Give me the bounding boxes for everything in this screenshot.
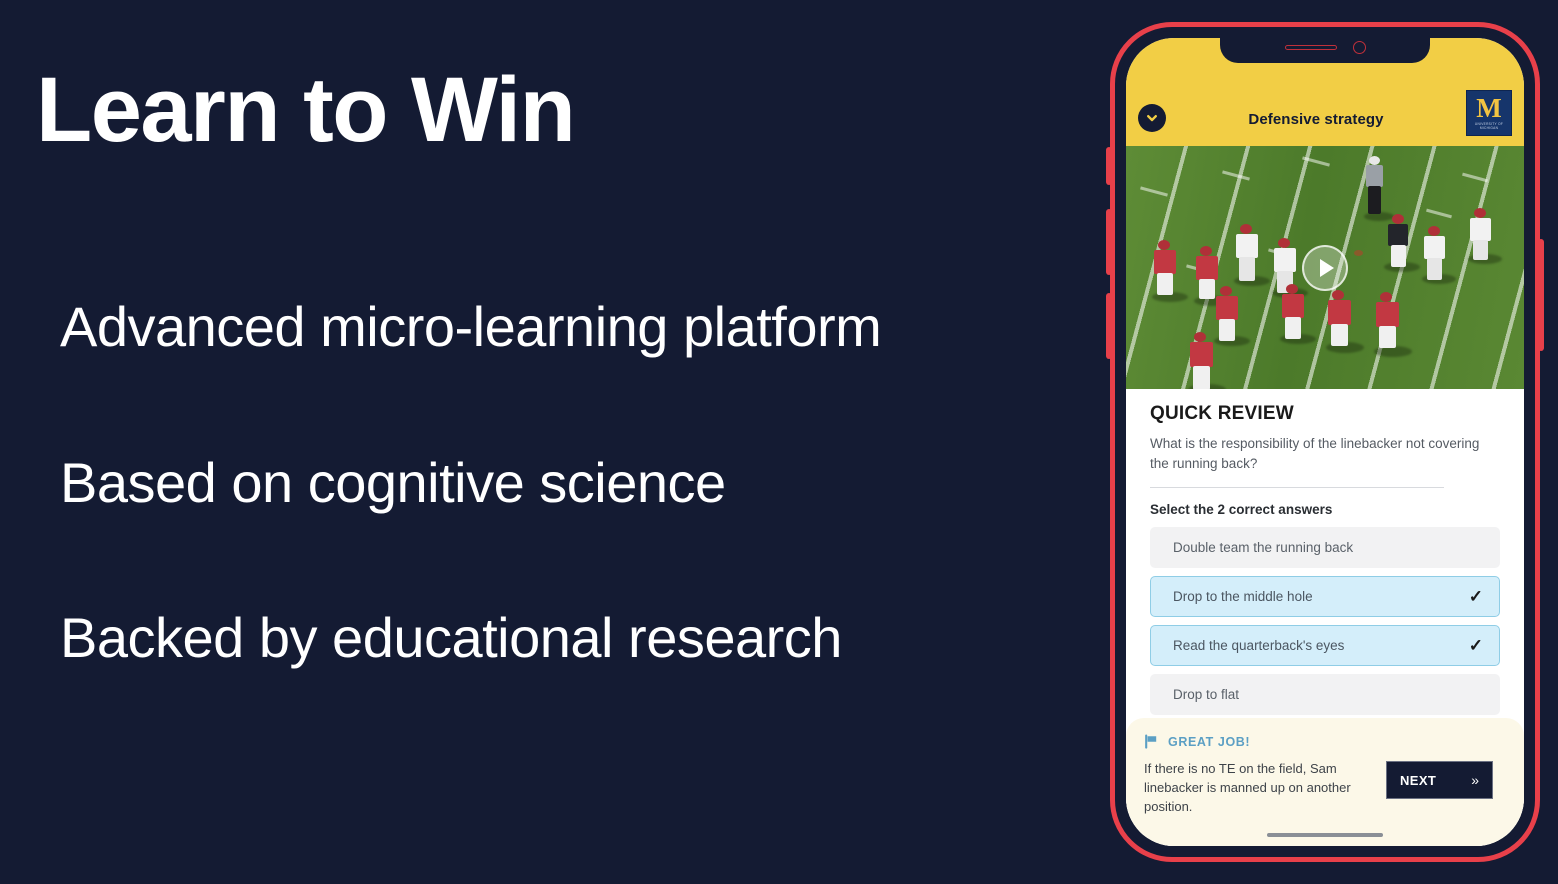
volume-down-button[interactable] bbox=[1106, 293, 1112, 359]
chevron-down-icon[interactable] bbox=[1138, 104, 1166, 132]
next-button-label: NEXT bbox=[1400, 773, 1436, 788]
power-button[interactable] bbox=[1538, 239, 1544, 351]
speaker-icon bbox=[1285, 45, 1337, 50]
michigan-logo: M UNIVERSITY OF MICHIGAN bbox=[1466, 90, 1512, 136]
list-item: Advanced micro-learning platform bbox=[60, 296, 1070, 358]
video-thumbnail[interactable] bbox=[1126, 146, 1524, 389]
marketing-panel: Learn to Win Advanced micro-learning pla… bbox=[0, 0, 1090, 884]
quiz-instruction: Select the 2 correct answers bbox=[1150, 502, 1500, 517]
logo-mark: M bbox=[1476, 96, 1501, 120]
answer-option[interactable]: Drop to the middle hole ✓ bbox=[1150, 576, 1500, 617]
check-icon: ✓ bbox=[1469, 588, 1483, 605]
volume-up-button[interactable] bbox=[1106, 209, 1112, 275]
answer-option[interactable]: Drop to flat bbox=[1150, 674, 1500, 715]
answer-option[interactable]: Read the quarterback's eyes ✓ bbox=[1150, 625, 1500, 666]
answer-option[interactable]: Double team the running back bbox=[1150, 527, 1500, 568]
home-indicator[interactable] bbox=[1267, 833, 1383, 837]
feedback-text: If there is no TE on the field, Sam line… bbox=[1144, 759, 1376, 817]
next-button[interactable]: NEXT » bbox=[1386, 761, 1493, 799]
answer-option-label: Double team the running back bbox=[1173, 540, 1483, 555]
phone-screen: Defensive strategy M UNIVERSITY OF MICHI… bbox=[1126, 38, 1524, 846]
check-icon: ✓ bbox=[1469, 637, 1483, 654]
page-title: Learn to Win bbox=[36, 62, 574, 159]
logo-subtitle: UNIVERSITY OF MICHIGAN bbox=[1467, 122, 1511, 130]
play-icon[interactable] bbox=[1302, 245, 1348, 291]
quiz-section-label: QUICK REVIEW bbox=[1150, 403, 1500, 425]
phone-notch bbox=[1220, 31, 1430, 63]
flag-icon bbox=[1144, 734, 1159, 749]
feedback-body-row: If there is no TE on the field, Sam line… bbox=[1144, 759, 1506, 817]
silent-switch-button[interactable] bbox=[1106, 147, 1112, 185]
quiz-panel: QUICK REVIEW What is the responsibility … bbox=[1126, 389, 1524, 846]
feedback-panel: GREAT JOB! If there is no TE on the fiel… bbox=[1126, 718, 1524, 846]
feedback-header: GREAT JOB! bbox=[1144, 734, 1506, 749]
list-item: Based on cognitive science bbox=[60, 452, 1070, 514]
quiz-question: What is the responsibility of the lineba… bbox=[1150, 434, 1500, 473]
lesson-title: Defensive strategy bbox=[1166, 111, 1466, 128]
divider bbox=[1150, 487, 1444, 488]
list-item: Backed by educational research bbox=[60, 607, 1070, 669]
answer-options: Double team the running back Drop to the… bbox=[1150, 527, 1500, 715]
answer-option-label: Read the quarterback's eyes bbox=[1173, 638, 1469, 653]
phone-mockup: Defensive strategy M UNIVERSITY OF MICHI… bbox=[1110, 22, 1540, 862]
feedback-title: GREAT JOB! bbox=[1168, 735, 1250, 749]
double-chevron-right-icon: » bbox=[1471, 773, 1479, 787]
phone-body: Defensive strategy M UNIVERSITY OF MICHI… bbox=[1119, 31, 1531, 853]
camera-icon bbox=[1353, 41, 1366, 54]
answer-option-label: Drop to flat bbox=[1173, 687, 1483, 702]
feature-bullet-list: Advanced micro-learning platform Based o… bbox=[60, 296, 1070, 669]
answer-option-label: Drop to the middle hole bbox=[1173, 589, 1469, 604]
